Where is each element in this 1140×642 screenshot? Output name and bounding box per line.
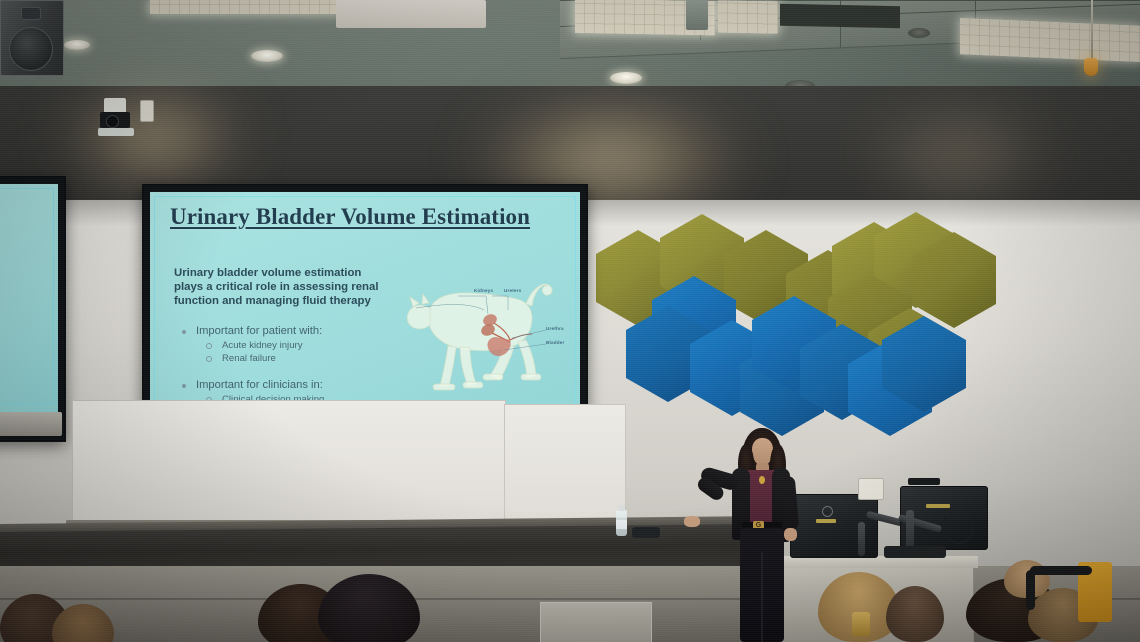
monitor-badge xyxy=(926,504,950,508)
ceiling xyxy=(0,0,1140,96)
bottle-label xyxy=(616,520,627,529)
label-ureters: Ureters xyxy=(504,288,522,293)
audience-hair-clip xyxy=(852,612,870,636)
presenter-necklace xyxy=(759,476,765,484)
hexagon-acoustic-panel-wall xyxy=(596,228,996,424)
monitor-badge xyxy=(816,519,836,523)
camera-base-plate xyxy=(98,128,134,136)
slide-title: Urinary Bladder Volume Estimation xyxy=(170,204,530,230)
bullet-level1: Important for clinicians in: xyxy=(174,378,394,393)
whiteboard-panel xyxy=(504,404,626,524)
secondary-projection-screen: Urethra Bladder xyxy=(0,176,66,442)
secondary-screen-valance xyxy=(0,412,62,436)
speaker-woofer xyxy=(9,27,53,71)
slide-bullet-list: Important for patient with: Acute kidney… xyxy=(174,324,394,406)
lower-panel xyxy=(540,602,652,642)
chair-back-frame xyxy=(1026,570,1035,610)
bullet-level1: Important for patient with: xyxy=(174,324,394,339)
recessed-downlight xyxy=(908,28,930,38)
chair-armrest xyxy=(1030,566,1092,575)
secondary-slide: Urethra Bladder xyxy=(0,184,58,418)
label-bladder: Bladder xyxy=(546,340,565,345)
whiteboard-panel xyxy=(72,400,506,524)
label-kidneys: Kidneys xyxy=(474,288,493,293)
podium-sensor-bar xyxy=(908,478,940,485)
monitor-arm-right-post xyxy=(906,510,914,550)
audience-head xyxy=(886,586,944,642)
presenter-right-hand xyxy=(784,528,797,541)
ceiling-panel-box xyxy=(336,0,486,28)
pendant-lamp xyxy=(1084,58,1098,76)
monitor-power-indicator xyxy=(822,506,833,517)
wall-outlet xyxy=(140,100,154,122)
cat-urinary-anatomy-diagram: Kidneys Ureters Urethra Bladder xyxy=(396,252,572,400)
recessed-downlight xyxy=(251,50,283,62)
recessed-downlight xyxy=(610,72,642,84)
desk-case xyxy=(632,527,660,538)
ceiling-light-panel xyxy=(718,0,778,33)
bullet-level2: Acute kidney injury xyxy=(174,339,394,352)
speaker-tweeter xyxy=(21,7,41,20)
ceiling-light-panel xyxy=(150,0,340,14)
label-urethra: Urethra xyxy=(546,326,564,331)
lecture-hall-photo: Urethra Bladder Urinary Bladder Volume E… xyxy=(0,0,1140,642)
bullet-level2: Renal failure xyxy=(174,352,394,365)
ceiling-light-panel xyxy=(960,18,1140,62)
camera-lens xyxy=(106,115,119,128)
podium-keyboard xyxy=(884,546,946,558)
presenter-left-hand xyxy=(684,516,700,527)
projector-edge-ring xyxy=(0,188,54,404)
recessed-downlight xyxy=(64,40,90,50)
podium-light-switch[interactable] xyxy=(858,478,884,500)
bottle-cap xyxy=(618,505,625,511)
presenter-trouser-seam xyxy=(761,552,763,642)
ceiling-projector xyxy=(686,0,708,30)
wall-speaker xyxy=(0,0,64,76)
slide-body-text: Urinary bladder volume estimation plays … xyxy=(174,266,386,309)
monitor-arm-left-post xyxy=(858,522,865,556)
bullet-spacer xyxy=(174,365,394,378)
hanging-cable xyxy=(1091,0,1093,60)
